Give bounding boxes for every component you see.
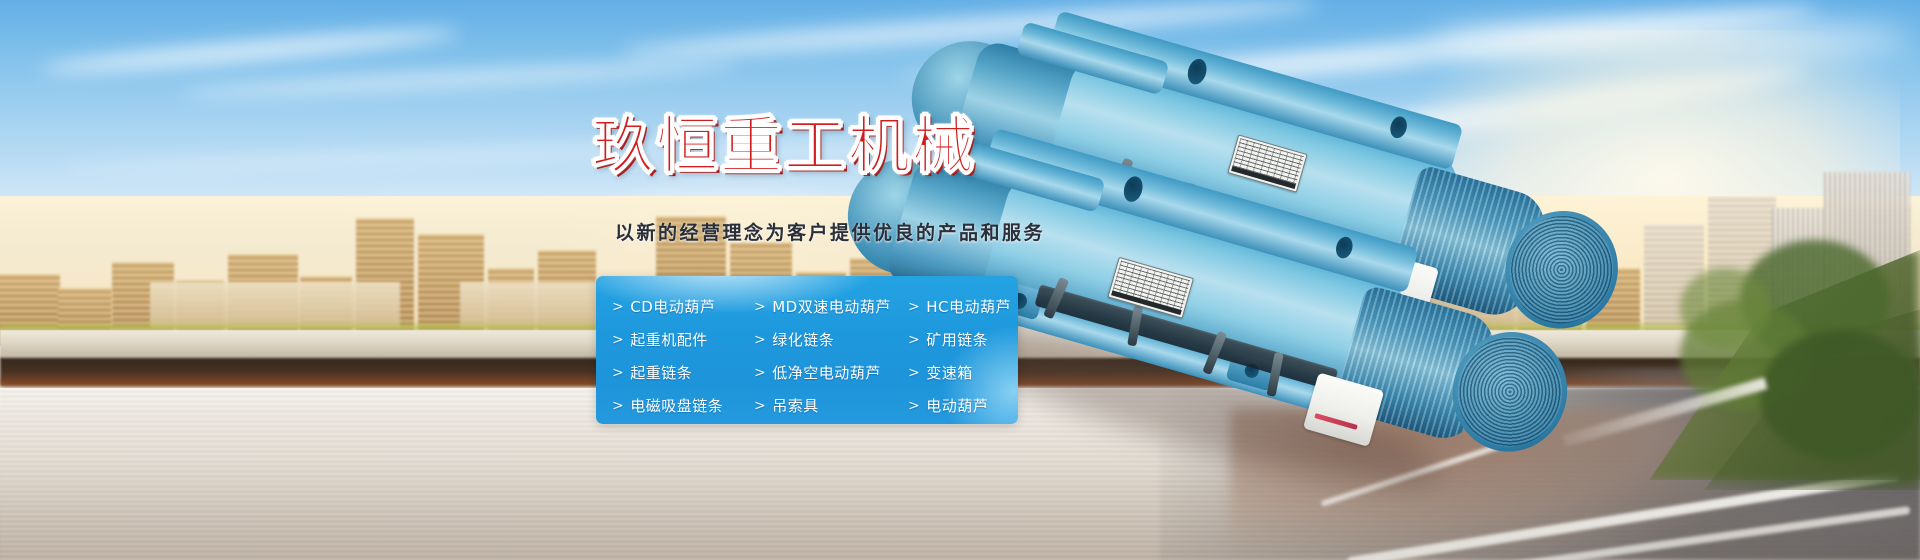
- product-links-panel: >CD电动葫芦>MD双速电动葫芦>HC电动葫芦>起重机配件>绿化链条>矿用链条>…: [596, 276, 1018, 424]
- product-link-MD双速电动葫芦[interactable]: >MD双速电动葫芦: [738, 296, 892, 317]
- product-link-label: 矿用链条: [926, 329, 988, 350]
- chevron-right-icon: >: [908, 299, 920, 315]
- cloud-wisp: [40, 24, 460, 79]
- chevron-right-icon: >: [612, 398, 624, 414]
- page-subtitle: 以新的经营理念为客户提供优良的产品和服务: [615, 218, 1045, 245]
- chevron-right-icon: >: [908, 398, 920, 414]
- product-link-label: 低净空电动葫芦: [772, 362, 881, 383]
- product-link-label: 起重链条: [630, 362, 692, 383]
- chevron-right-icon: >: [612, 299, 624, 315]
- product-link-绿化链条[interactable]: >绿化链条: [738, 329, 892, 350]
- product-link-label: HC电动葫芦: [926, 296, 1011, 317]
- product-link-label: CD电动葫芦: [630, 296, 715, 317]
- product-link-电动葫芦[interactable]: >电动葫芦: [892, 395, 1018, 416]
- chevron-right-icon: >: [754, 332, 766, 348]
- chevron-right-icon: >: [754, 365, 766, 381]
- product-link-电磁吸盘链条[interactable]: >电磁吸盘链条: [596, 395, 738, 416]
- foliage: [1680, 268, 1770, 348]
- bottom-vignette: [0, 470, 1920, 560]
- product-link-CD电动葫芦[interactable]: >CD电动葫芦: [596, 296, 738, 317]
- product-link-起重链条[interactable]: >起重链条: [596, 362, 738, 383]
- cloud-wisp: [180, 57, 740, 100]
- product-link-矿用链条[interactable]: >矿用链条: [892, 329, 1018, 350]
- chevron-right-icon: >: [612, 332, 624, 348]
- product-links-grid: >CD电动葫芦>MD双速电动葫芦>HC电动葫芦>起重机配件>绿化链条>矿用链条>…: [596, 276, 1018, 424]
- product-link-label: 变速箱: [926, 362, 973, 383]
- chevron-right-icon: >: [908, 332, 920, 348]
- foliage: [1760, 330, 1920, 460]
- product-link-label: 电动葫芦: [926, 395, 988, 416]
- product-link-label: MD双速电动葫芦: [772, 296, 891, 317]
- product-link-低净空电动葫芦[interactable]: >低净空电动葫芦: [738, 362, 892, 383]
- hero-banner: 玖恒重工机械 以新的经营理念为客户提供优良的产品和服务 >CD电动葫芦>MD双速…: [0, 0, 1920, 560]
- product-link-起重机配件[interactable]: >起重机配件: [596, 329, 738, 350]
- product-link-吊索具[interactable]: >吊索具: [738, 395, 892, 416]
- chevron-right-icon: >: [612, 365, 624, 381]
- chevron-right-icon: >: [754, 299, 766, 315]
- product-link-变速箱[interactable]: >变速箱: [892, 362, 1018, 383]
- product-link-label: 起重机配件: [630, 329, 708, 350]
- product-link-label: 绿化链条: [772, 329, 834, 350]
- chevron-right-icon: >: [908, 365, 920, 381]
- headline-text: 玖恒重工机械: [592, 115, 976, 177]
- chevron-right-icon: >: [754, 398, 766, 414]
- product-link-label: 电磁吸盘链条: [630, 395, 723, 416]
- product-link-label: 吊索具: [772, 395, 819, 416]
- product-link-HC电动葫芦[interactable]: >HC电动葫芦: [892, 296, 1018, 317]
- page-title: 玖恒重工机械: [592, 115, 976, 177]
